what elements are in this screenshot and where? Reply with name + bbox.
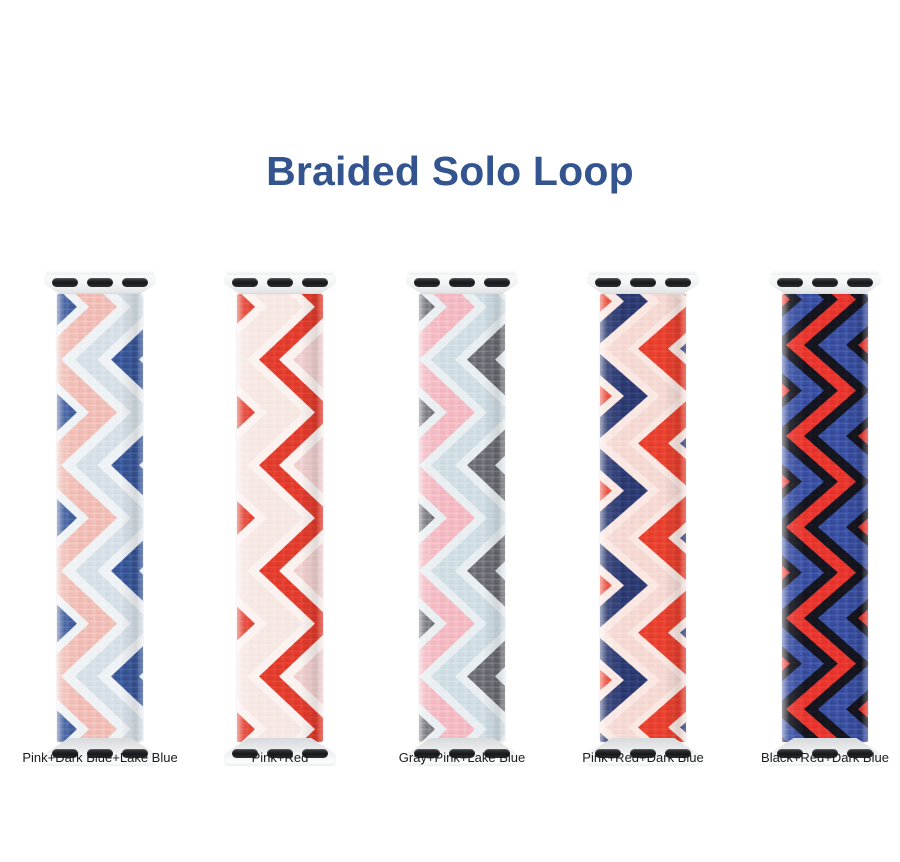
lug-slot-group (224, 278, 336, 287)
band-weave-pattern (237, 294, 323, 742)
braided-band (419, 294, 505, 742)
braided-band (782, 294, 868, 742)
lug-slot-icon (665, 278, 691, 287)
band-weave-pattern (57, 294, 143, 742)
lug-slot-group (406, 278, 518, 287)
product-item[interactable] (553, 268, 733, 768)
page-title: Braided Solo Loop (0, 148, 900, 195)
lug-slot-icon (414, 278, 440, 287)
lug-slot-icon (87, 278, 113, 287)
band-weave-pattern (419, 294, 505, 742)
product-item[interactable] (735, 268, 900, 768)
lug-slot-icon (122, 278, 148, 287)
band-weave-pattern (782, 294, 868, 742)
lug-rail (589, 270, 697, 275)
product-label: Pink+Red (190, 750, 370, 767)
braided-band (57, 294, 143, 742)
product-item[interactable] (372, 268, 552, 768)
lug-slot-icon (267, 278, 293, 287)
braided-band (237, 294, 323, 742)
lug-rail (46, 270, 154, 275)
lug-rail (408, 270, 516, 275)
lug-slot-icon (847, 278, 873, 287)
braided-band (600, 294, 686, 742)
product-label: Gray+Pink+Lake Blue (372, 750, 552, 767)
lug-slot-icon (812, 278, 838, 287)
lug-slot-icon (630, 278, 656, 287)
lug-slot-group (587, 278, 699, 287)
lug-slot-icon (449, 278, 475, 287)
lug-slot-icon (232, 278, 258, 287)
product-label: Pink+Red+Dark Blue (553, 750, 733, 767)
product-item[interactable] (10, 268, 190, 768)
product-label: Pink+Dark Blue+Lake Blue (10, 750, 190, 767)
lug-rail (226, 270, 334, 275)
lug-slot-icon (595, 278, 621, 287)
lug-slot-icon (52, 278, 78, 287)
band-weave-pattern (600, 294, 686, 742)
product-label: Black+Red+Dark Blue (735, 750, 900, 767)
product-row (0, 268, 900, 768)
lug-slot-icon (302, 278, 328, 287)
product-item[interactable] (190, 268, 370, 768)
lug-slot-icon (484, 278, 510, 287)
lug-slot-group (44, 278, 156, 287)
lug-slot-icon (777, 278, 803, 287)
lug-rail (771, 270, 879, 275)
lug-slot-group (769, 278, 881, 287)
